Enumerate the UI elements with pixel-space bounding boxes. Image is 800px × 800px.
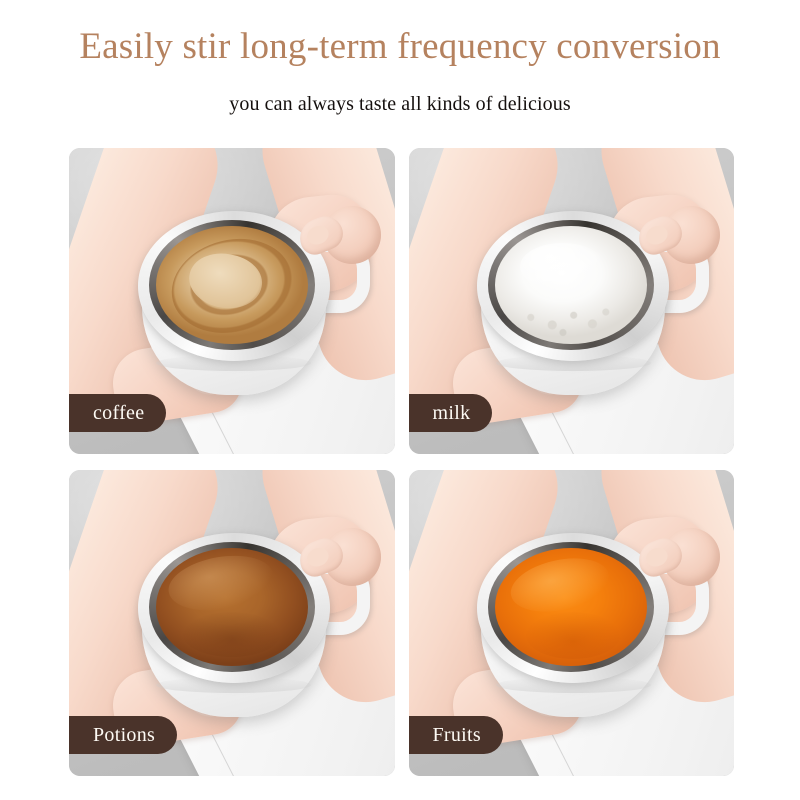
gallery-panel-milk[interactable]: milk [409,148,735,454]
gallery-panel-fruits[interactable]: Fruits [409,470,735,776]
header: Easily stir long-term frequency conversi… [0,0,800,116]
beverage-gallery-grid: coffee milk [69,148,734,776]
panel-label-fruits: Fruits [409,716,503,754]
liquid-surface [156,548,308,666]
product-feature-banner: Easily stir long-term frequency conversi… [0,0,800,800]
panel-label-potions: Potions [69,716,177,754]
liquid-surface [495,226,647,344]
liquid-surface [156,226,308,344]
panel-label-milk: milk [409,394,493,432]
gallery-panel-coffee[interactable]: coffee [69,148,395,454]
liquid-surface [495,548,647,666]
page-title: Easily stir long-term frequency conversi… [0,26,800,67]
gallery-panel-potions[interactable]: Potions [69,470,395,776]
page-subtitle: you can always taste all kinds of delici… [0,93,800,116]
panel-label-coffee: coffee [69,394,166,432]
